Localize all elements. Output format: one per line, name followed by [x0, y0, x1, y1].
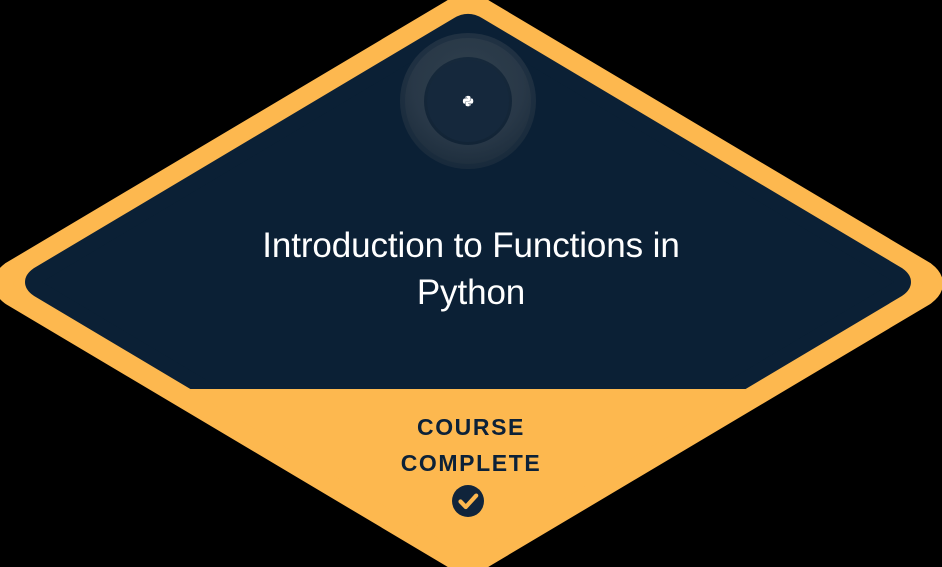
status-badge-label: COURSE COMPLETE: [271, 409, 671, 481]
emblem-rings: [400, 33, 536, 169]
check-circle-icon: [452, 485, 484, 517]
course-title: Introduction to Functions in Python: [171, 222, 771, 316]
